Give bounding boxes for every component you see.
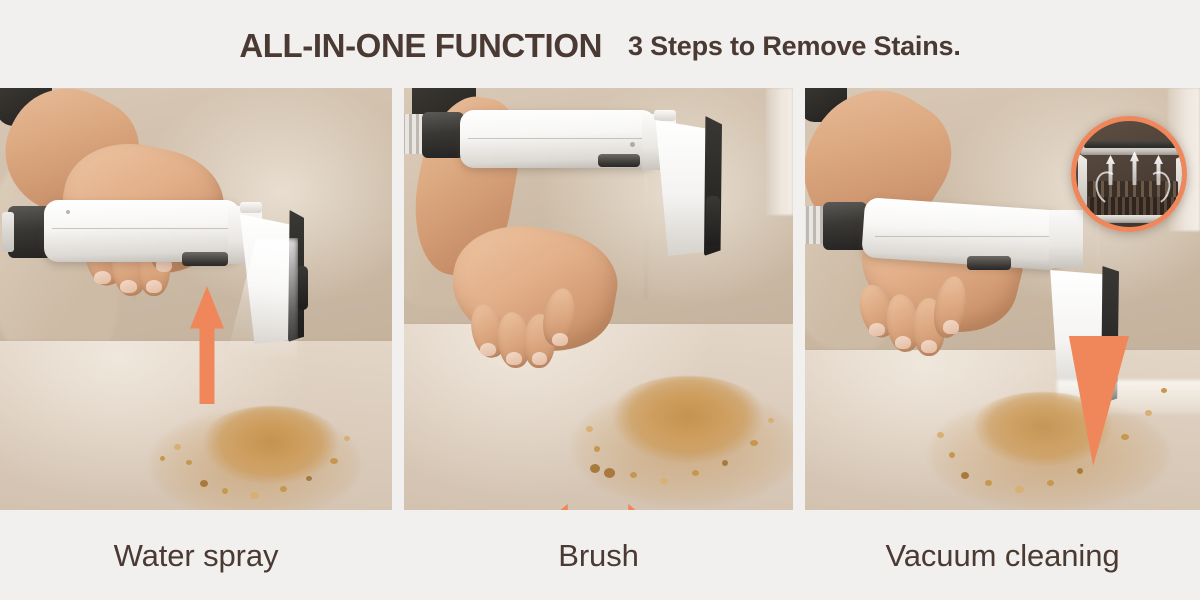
device-neck	[1049, 210, 1083, 268]
crumb	[630, 472, 637, 478]
crumb	[961, 472, 969, 479]
device-power-button[interactable]	[654, 110, 676, 121]
panel-row	[0, 88, 1200, 510]
page-title: ALL-IN-ONE FUNCTION	[239, 27, 602, 65]
caption-vacuum-cleaning: Vacuum cleaning	[805, 532, 1200, 580]
crumb	[985, 480, 992, 486]
device-end-cap	[823, 202, 867, 250]
crumb	[937, 432, 944, 438]
device-power-button[interactable]	[240, 202, 262, 213]
device-hose	[805, 206, 825, 244]
crumb	[949, 452, 955, 458]
inset-screw-dot	[1170, 213, 1175, 218]
crumb	[1047, 480, 1054, 486]
device-trigger[interactable]	[598, 154, 640, 167]
crumb	[692, 470, 699, 476]
panel-brush	[404, 88, 793, 510]
crumb	[200, 480, 208, 487]
crumb	[1015, 486, 1024, 493]
crumb	[750, 440, 758, 446]
page-header: ALL-IN-ONE FUNCTION 3 Steps to Remove St…	[0, 22, 1200, 70]
device-nozzle-grip	[706, 196, 720, 246]
crumb	[768, 418, 774, 423]
crumb	[594, 446, 600, 452]
fingernail	[895, 336, 911, 349]
crumb	[330, 458, 338, 464]
crumb	[722, 460, 728, 466]
fingernail	[94, 271, 111, 284]
crumb	[590, 464, 600, 473]
device-end-cap	[422, 112, 464, 158]
device-indicator-dot	[630, 142, 635, 147]
caption-water-spray: Water spray	[0, 532, 392, 580]
fingernail	[869, 323, 885, 336]
device-cap-ring	[2, 212, 14, 252]
crumb	[1077, 468, 1083, 474]
wall-strip	[766, 88, 793, 215]
crumb	[280, 486, 287, 492]
dirt-pile	[604, 376, 772, 472]
device-trigger[interactable]	[182, 252, 228, 266]
fingernail	[921, 340, 937, 353]
crumb	[1145, 410, 1152, 416]
crumb	[1121, 434, 1129, 440]
airflow-arrow-icon	[1130, 151, 1139, 185]
caption-brush: Brush	[404, 532, 793, 580]
panel-water-spray	[0, 88, 392, 510]
fingernail	[120, 280, 137, 293]
fingernail	[532, 352, 547, 365]
crumb	[174, 444, 181, 450]
fingernail	[146, 280, 162, 293]
inset-bottom-plate	[1086, 215, 1180, 223]
crumb	[604, 468, 615, 478]
dirt-pile	[196, 406, 346, 492]
fingernail	[552, 333, 568, 346]
inset-squeegee-bar	[1084, 141, 1184, 148]
device-seam	[52, 228, 232, 229]
infographic-page: ALL-IN-ONE FUNCTION 3 Steps to Remove St…	[0, 0, 1200, 600]
suction-nozzle-callout	[1071, 116, 1187, 232]
crumb	[306, 476, 312, 481]
crumb	[186, 460, 192, 465]
crumb	[1161, 388, 1167, 393]
page-subtitle: 3 Steps to Remove Stains.	[628, 31, 961, 62]
crumb	[586, 426, 593, 432]
crumb	[160, 456, 165, 461]
crumb	[660, 478, 668, 484]
caption-row: Water spray Brush Vacuum cleaning	[0, 512, 1200, 600]
crumb	[250, 492, 259, 499]
crumb	[222, 488, 228, 494]
device-trigger[interactable]	[967, 256, 1011, 270]
fingernail	[506, 352, 522, 365]
device-seam	[875, 236, 1055, 237]
device-indicator-dot	[66, 210, 70, 214]
inset-left-wall	[1078, 153, 1087, 217]
panel-vacuum-cleaning	[805, 88, 1200, 510]
crumb	[344, 436, 350, 441]
fingernail	[943, 320, 959, 334]
device-seam	[468, 138, 648, 139]
fingernail	[480, 343, 496, 356]
